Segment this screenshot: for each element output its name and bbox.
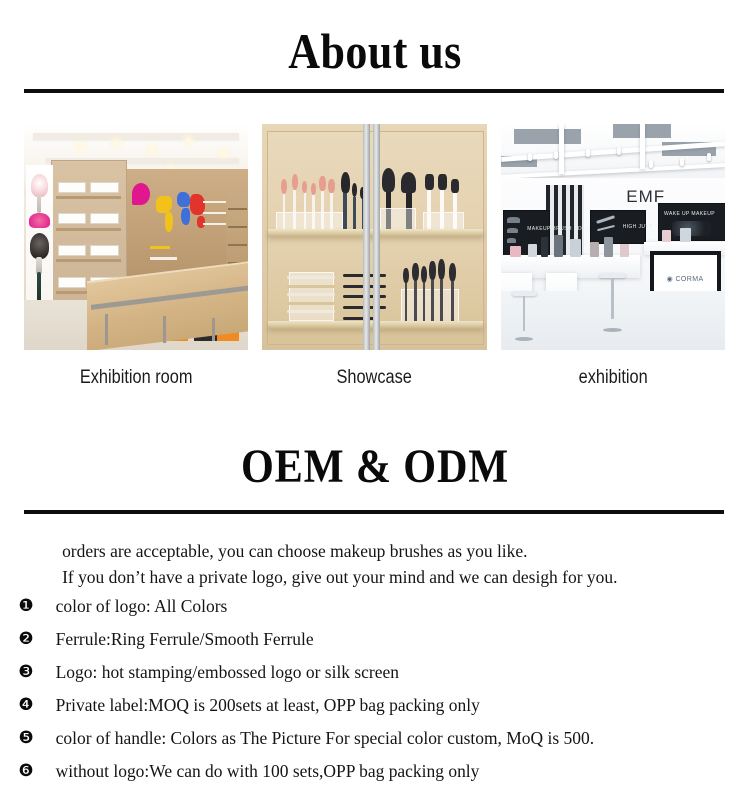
caption-exhibition: exhibition <box>516 367 709 395</box>
ceiling-truss <box>640 124 645 169</box>
about-gallery: EMF MAKEUP BRUSH COLLECTION HIGH JUTY WA… <box>24 124 725 350</box>
world-map-graphic <box>154 185 212 235</box>
brush-flat <box>287 285 334 288</box>
poster-brush-handle <box>37 194 41 214</box>
wall-text-line <box>150 246 170 249</box>
caption-showcase: Showcase <box>278 367 471 395</box>
product-display-panel-mid: HIGH JUTY <box>590 210 646 244</box>
track-spotlight <box>617 147 621 155</box>
ceiling-dark-panel <box>514 129 581 145</box>
about-us-heading: About us <box>45 26 705 76</box>
poster-brush-head <box>30 233 49 259</box>
oem-divider-rule <box>24 510 724 514</box>
brush <box>352 183 358 234</box>
wall-text-line <box>150 257 177 260</box>
track-spotlight <box>707 153 711 161</box>
brush-flat <box>287 310 334 313</box>
list-text-5: color of handle: Colors as The Picture F… <box>44 728 594 749</box>
caption-exhibition-room: Exhibition room <box>40 367 233 395</box>
list-marker-4-icon: ❹ <box>0 697 44 714</box>
counter-product <box>620 244 629 258</box>
exhibition-room-photo[interactable] <box>24 124 248 350</box>
counter-product <box>554 235 563 258</box>
counter-product <box>662 230 671 241</box>
corma-logo: ◉ CORMA <box>667 275 704 283</box>
list-text-2: Ferrule:Ring Ferrule/Smooth Ferrule <box>44 629 314 650</box>
ceiling-truss <box>559 124 564 174</box>
list-text-4: Private label:MOQ is 200sets at least, O… <box>44 695 480 716</box>
table-leg <box>212 318 215 341</box>
counter-product <box>541 237 548 257</box>
counter-product <box>590 242 599 258</box>
cabinet-door-mullion <box>373 124 380 350</box>
gallery-captions: Exhibition room Showcase exhibition <box>24 367 725 395</box>
ceiling-downlight <box>186 138 191 143</box>
brush <box>429 261 435 323</box>
oem-odm-body: orders are acceptable, you can choose ma… <box>0 538 750 788</box>
ceiling-downlight <box>150 147 155 152</box>
list-marker-1-icon: ❶ <box>0 598 44 615</box>
brush <box>438 259 445 323</box>
brush <box>412 263 418 322</box>
oem-intro-line-1: orders are acceptable, you can choose ma… <box>0 538 728 564</box>
about-divider-rule <box>24 89 724 93</box>
bar-stool <box>599 273 626 332</box>
wall-text-line <box>203 223 225 225</box>
brush <box>421 266 427 323</box>
brush-flat <box>287 293 334 296</box>
counter-product <box>528 244 537 258</box>
cabinet-door-mullion <box>363 124 370 350</box>
oem-list-item: ❷ Ferrule:Ring Ferrule/Smooth Ferrule <box>0 623 750 656</box>
oem-odm-heading: OEM & ODM <box>45 443 705 491</box>
panel-mid-title: HIGH JUTY <box>623 224 653 230</box>
poster-brush-fan <box>29 213 49 228</box>
brush-flat <box>287 302 334 305</box>
acrylic-stand <box>289 272 334 321</box>
list-text-1: color of logo: All Colors <box>44 596 227 617</box>
list-text-3: Logo: hot stamping/embossed logo or silk… <box>44 662 399 683</box>
oem-list-item: ❶ color of logo: All Colors <box>0 590 750 623</box>
track-spotlight <box>649 160 653 168</box>
track-spotlight <box>680 158 684 166</box>
brush-flat <box>287 276 334 279</box>
oem-list-item: ❻ without logo:We can do with 100 sets,O… <box>0 755 750 788</box>
counter-product <box>510 246 521 257</box>
table-leg <box>163 316 166 343</box>
list-marker-6-icon: ❻ <box>0 763 44 780</box>
counter-product <box>570 239 581 257</box>
table-leg <box>105 314 108 346</box>
exhibition-booth-photo[interactable]: EMF MAKEUP BRUSH COLLECTION HIGH JUTY WA… <box>501 124 725 350</box>
list-text-6: without logo:We can do with 100 sets,OPP… <box>44 761 479 782</box>
ceiling-beam <box>33 133 239 140</box>
list-marker-2-icon: ❷ <box>0 631 44 648</box>
showcase-photo[interactable] <box>262 124 486 350</box>
counter-product <box>680 228 691 242</box>
oem-list-item: ❺ color of handle: Colors as The Picture… <box>0 722 750 755</box>
track-spotlight <box>528 153 532 161</box>
oem-intro-line-2: If you don’t have a private logo, give o… <box>0 564 728 590</box>
oem-list-item: ❹ Private label:MOQ is 200sets at least,… <box>0 689 750 722</box>
counter-product <box>604 237 613 257</box>
list-marker-3-icon: ❸ <box>0 664 44 681</box>
ceiling-downlight <box>114 140 119 145</box>
bar-stool <box>512 291 537 341</box>
list-marker-5-icon: ❺ <box>0 730 44 747</box>
track-spotlight <box>586 149 590 157</box>
brand-logo-mark <box>132 183 150 205</box>
brush <box>449 263 456 322</box>
panel-right-title: WAKE UP MAKEUP <box>664 211 715 217</box>
oem-list-item: ❸ Logo: hot stamping/embossed logo or si… <box>0 656 750 689</box>
brush <box>403 268 409 323</box>
